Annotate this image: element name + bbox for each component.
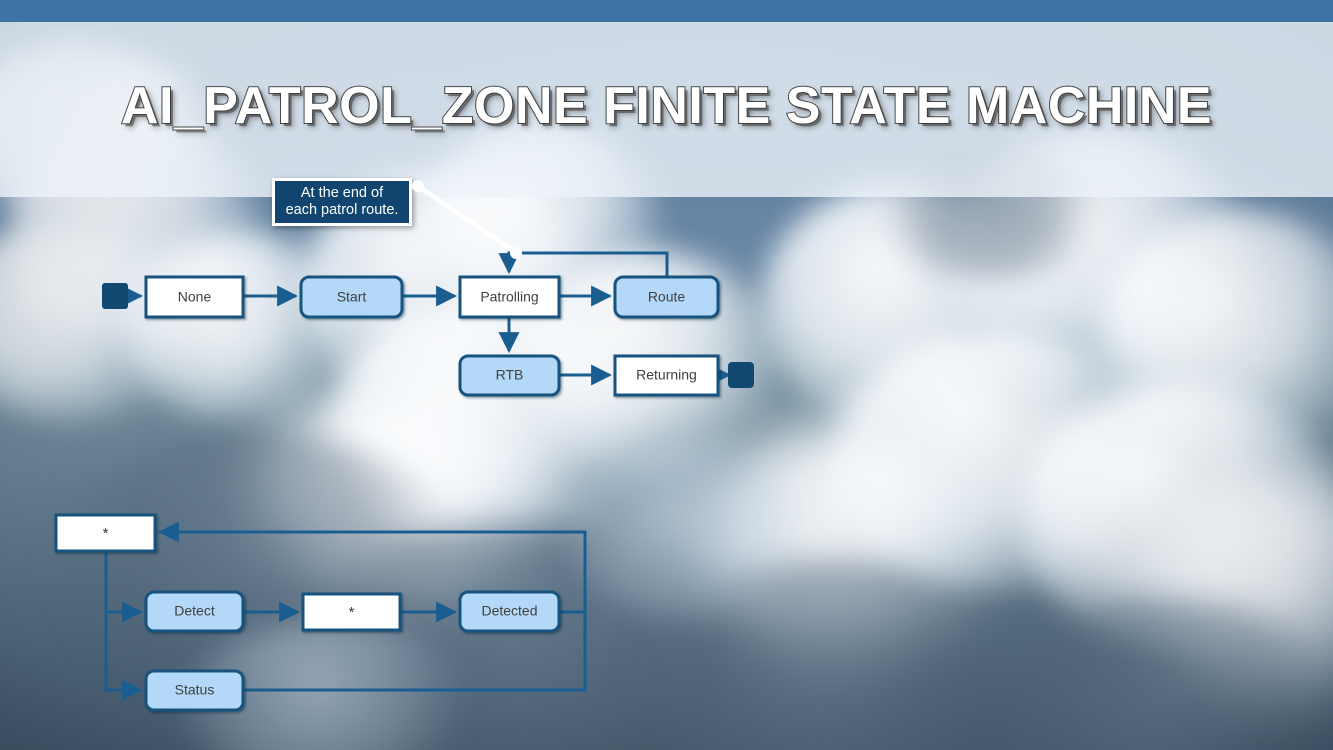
state-node-start-label: Start [337,289,367,305]
callout-leader-line [412,180,522,259]
state-node-any-mid-label: * [349,604,355,621]
leader-endpoint-dot [412,180,424,192]
state-node-detect-label: Detect [174,603,215,619]
state-node-detected-label: Detected [481,603,537,619]
state-node-none[interactable]: None [146,277,243,317]
state-machine-diagram: None Start Patrolling Route RTB Returnin… [0,0,1333,750]
transition-any-to-detect [106,551,141,612]
transition-any-to-status [106,612,141,690]
state-node-status[interactable]: Status [146,671,243,710]
state-node-patrolling-label: Patrolling [480,289,538,305]
state-node-none-label: None [178,289,212,305]
state-node-patrolling[interactable]: Patrolling [460,277,559,317]
start-terminator [103,284,127,308]
state-node-returning-label: Returning [636,367,697,383]
state-node-route-label: Route [648,289,686,305]
state-node-route[interactable]: Route [615,277,718,317]
leader-endpoint-dot [510,247,522,259]
state-node-any-top-label: * [103,525,109,542]
state-node-any-mid[interactable]: * [303,594,400,630]
end-terminator [729,363,753,387]
state-node-any-top[interactable]: * [56,515,155,551]
state-node-detect[interactable]: Detect [146,592,243,631]
state-node-start[interactable]: Start [301,277,402,317]
state-node-rtb[interactable]: RTB [460,356,559,395]
state-node-status-label: Status [175,682,215,698]
slide-canvas: AI_PATROL_ZONE FINITE STATE MACHINE At t… [0,0,1333,750]
state-node-returning[interactable]: Returning [615,356,718,395]
state-node-detected[interactable]: Detected [460,592,559,631]
transition-route-to-patrolling-loop [509,253,667,277]
state-node-rtb-label: RTB [496,367,524,383]
